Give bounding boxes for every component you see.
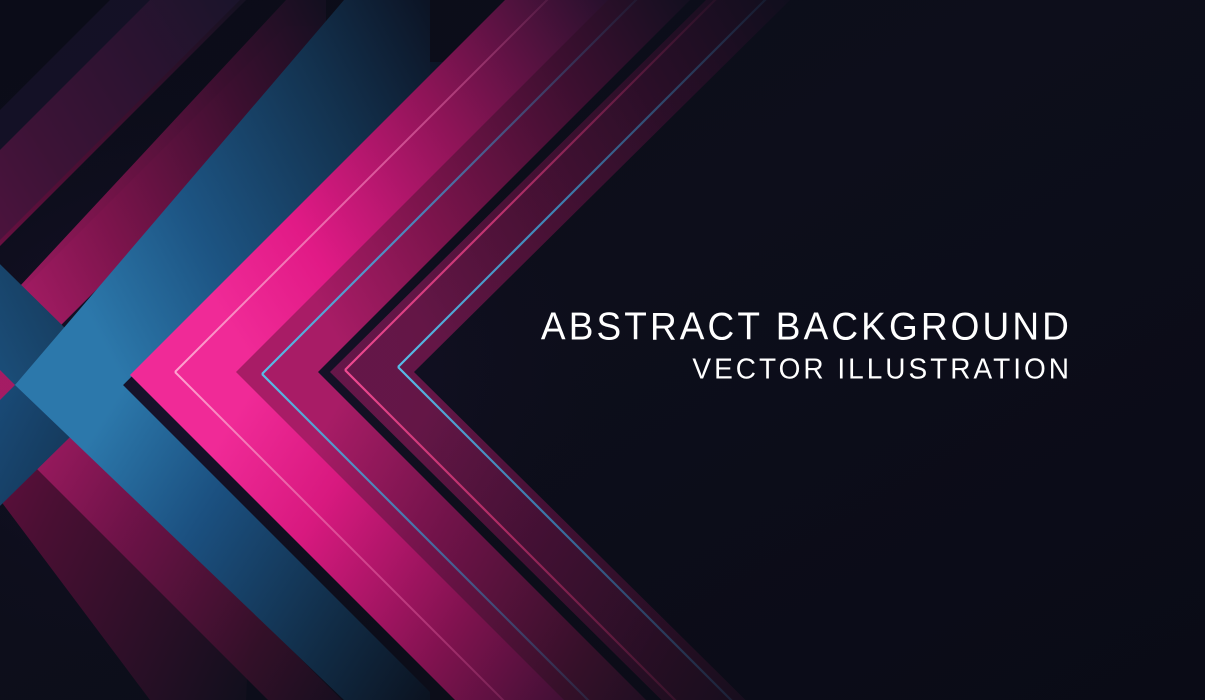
abstract-background-poster: ABSTRACT BACKGROUND VECTOR ILLUSTRATION: [0, 0, 1205, 700]
chevron-artwork: [0, 0, 1205, 700]
